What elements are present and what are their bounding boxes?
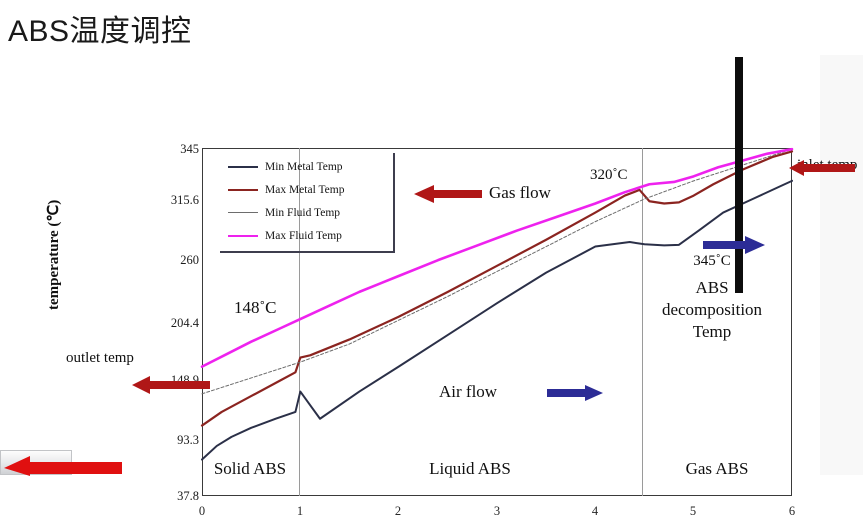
annotation-148c: 148˚C bbox=[234, 298, 277, 318]
slide-canvas: ABS温度调控 temperature (℃) 345 315.6 260 20… bbox=[0, 0, 863, 475]
legend-item-min-fluid-temp: Min Fluid Temp bbox=[228, 202, 340, 223]
legend-label-min-metal: Min Metal Temp bbox=[265, 161, 343, 173]
annotation-gas-flow: Gas flow bbox=[489, 183, 551, 203]
temp-345-arrow-icon bbox=[703, 234, 765, 256]
legend-item-min-metal-temp: Min Metal Temp bbox=[228, 156, 343, 177]
legend-item-max-metal-temp: Max Metal Temp bbox=[228, 179, 344, 200]
chart-figure: temperature (℃) 345 315.6 260 204.4 148.… bbox=[52, 55, 834, 475]
legend-swatch-min-fluid bbox=[228, 212, 258, 213]
region-label-liquid-abs: Liquid ABS bbox=[429, 459, 511, 479]
region-label-solid-abs: Solid ABS bbox=[214, 459, 286, 479]
inlet-temp-arrow-icon bbox=[789, 159, 855, 177]
x-tick-6: 6 bbox=[789, 504, 795, 519]
chart-legend: Min Metal Temp Max Metal Temp Min Fluid … bbox=[220, 153, 395, 253]
outlet-temp-arrow-icon bbox=[132, 375, 210, 395]
legend-swatch-min-metal bbox=[228, 166, 258, 168]
x-tick-2: 2 bbox=[395, 504, 401, 519]
x-axis-ticks: 0 1 2 3 4 5 6 bbox=[52, 504, 834, 526]
annotation-320c: 320˚C bbox=[590, 167, 628, 184]
page-title: ABS温度调控 bbox=[8, 6, 192, 50]
x-tick-4: 4 bbox=[592, 504, 598, 519]
x-tick-1: 1 bbox=[297, 504, 303, 519]
inlet-boundary-bar bbox=[735, 57, 743, 293]
annotation-outlet-temp: outlet temp bbox=[66, 350, 134, 367]
region-label-gas-abs: Gas ABS bbox=[686, 459, 749, 479]
air-flow-arrow-icon bbox=[547, 383, 603, 403]
legend-swatch-max-metal bbox=[228, 189, 258, 191]
gas-flow-arrow-icon bbox=[414, 183, 484, 205]
legend-item-max-fluid-temp: Max Fluid Temp bbox=[228, 225, 342, 246]
legend-label-max-metal: Max Metal Temp bbox=[265, 184, 344, 196]
legend-swatch-max-fluid bbox=[228, 235, 258, 237]
x-tick-3: 3 bbox=[494, 504, 500, 519]
legend-label-min-fluid: Min Fluid Temp bbox=[265, 207, 340, 219]
legend-label-max-fluid: Max Fluid Temp bbox=[265, 230, 342, 242]
annotation-abs-decomposition: ABS decomposition Temp bbox=[650, 277, 774, 342]
y-tick-6: 37.8 bbox=[177, 489, 199, 504]
annotation-air-flow: Air flow bbox=[439, 382, 497, 402]
x-tick-5: 5 bbox=[690, 504, 696, 519]
x-tick-0: 0 bbox=[199, 504, 205, 519]
bottom-left-arrow-icon bbox=[2, 452, 122, 476]
